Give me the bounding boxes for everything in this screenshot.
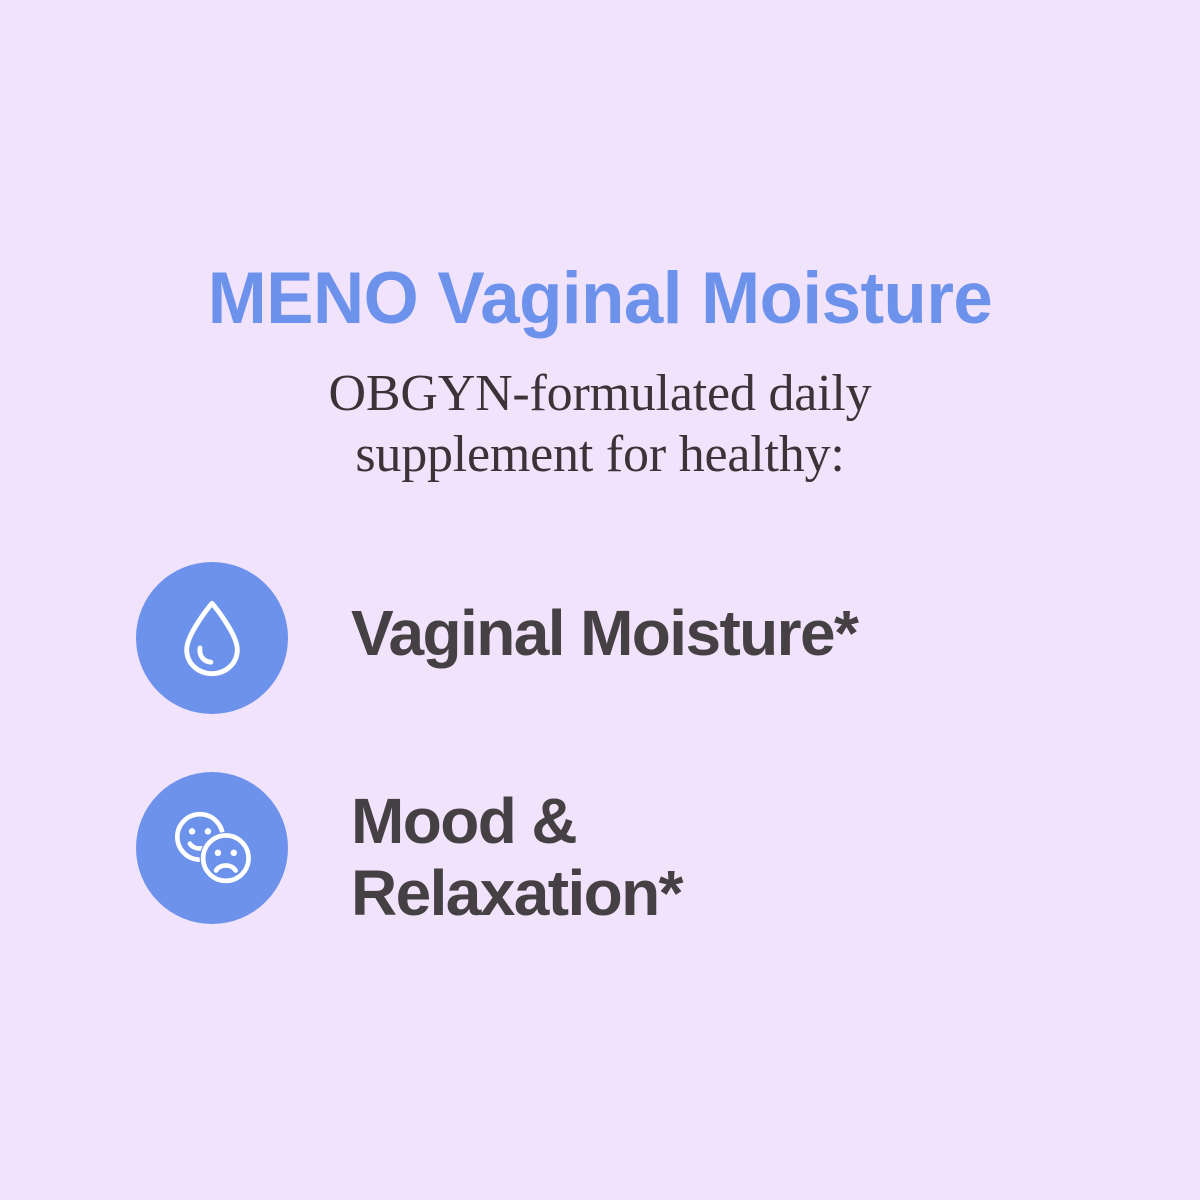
product-benefits-card: MENO Vaginal Moisture OBGYN-formulated d… (0, 0, 1200, 1200)
benefit-icon-badge (136, 772, 288, 924)
subtitle-line-1: OBGYN-formulated daily (0, 364, 1200, 424)
benefit-item-mood-relaxation: Mood & Relaxation* (136, 772, 1136, 929)
benefit-label-line-1: Mood & (351, 786, 1136, 858)
benefit-label-mood-relaxation: Mood & Relaxation* (351, 772, 1136, 929)
benefit-label-line-2: Relaxation* (351, 858, 1136, 930)
subtitle-line-2: supplement for healthy: (0, 425, 1200, 485)
page-subtitle: OBGYN-formulated daily supplement for he… (0, 364, 1200, 485)
mood-faces-icon (164, 800, 260, 896)
water-drop-icon (167, 593, 257, 683)
benefit-icon-badge (136, 562, 288, 714)
benefit-label-line-1: Vaginal Moisture* (351, 598, 1136, 670)
page-title: MENO Vaginal Moisture (18, 262, 1182, 336)
heading-block: MENO Vaginal Moisture OBGYN-formulated d… (0, 262, 1200, 485)
benefit-label-vaginal-moisture: Vaginal Moisture* (351, 562, 1136, 670)
benefit-item-vaginal-moisture: Vaginal Moisture* (136, 562, 1136, 714)
benefit-list: Vaginal Moisture* (136, 562, 1136, 929)
